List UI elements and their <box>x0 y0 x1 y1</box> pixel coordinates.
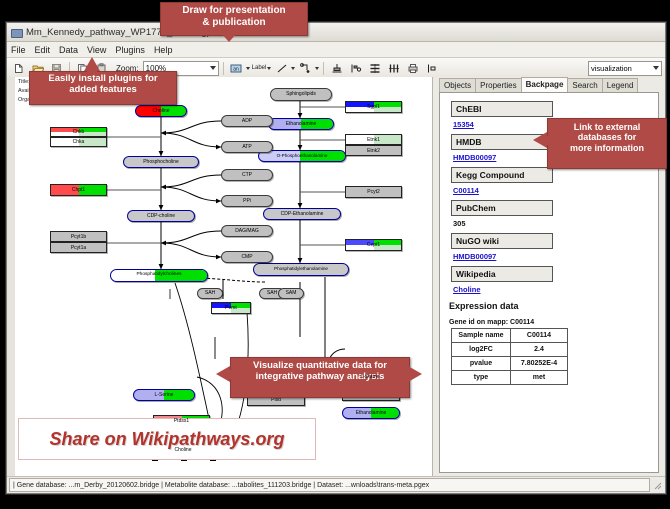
genebox-label: Cept1 <box>367 242 380 248</box>
node-label: DAG/MAG <box>235 229 259 234</box>
callout-visualize-arrow-left-stem <box>228 370 234 379</box>
node-label: SAM <box>286 291 297 296</box>
menu-item-help[interactable]: Help <box>154 45 173 55</box>
node-label: Phosphatidylcholines <box>136 273 181 278</box>
node-label: ADP <box>242 119 252 124</box>
genebox-label: Chkb <box>73 129 85 135</box>
label-tool[interactable]: Label <box>252 65 272 71</box>
table-row: type met <box>452 371 568 385</box>
node-ethanolamine-lower[interactable]: Ethanolamine <box>342 407 400 419</box>
node-dag-mag[interactable]: DAG/MAG <box>221 225 273 237</box>
toolbar-separator-2 <box>223 62 224 75</box>
table-cell-value: C00114 <box>511 329 568 343</box>
genebox-label: Pcyt1b <box>71 234 86 240</box>
table-cell-key: pvalue <box>452 357 511 371</box>
screenshot-root: Mm_Kennedy_pathway_WP1771_45176.gpml Fil… <box>0 0 670 509</box>
node-adp[interactable]: ADP <box>221 115 273 127</box>
resize-grip-icon[interactable] <box>652 480 662 490</box>
chevron-down-icon[interactable] <box>291 67 295 70</box>
table-cell-key: type <box>452 371 511 385</box>
node-label: L-Serine <box>155 393 174 398</box>
callout-visualize-line2: integrative pathway analysis <box>231 372 409 383</box>
node-label: O-Phosphoethanolamine <box>277 154 328 159</box>
callout-draw-line1: Draw for presentation <box>161 5 307 17</box>
node-cdp-ethanolamine[interactable]: CDP-Ethanolamine <box>263 208 341 220</box>
node-cmp[interactable]: CMP <box>221 251 273 263</box>
genebox-label: Etnk2 <box>367 148 380 154</box>
side-panel-tabs: Objects Properties Backpage Search Legen… <box>433 77 665 92</box>
node-label: SAH <box>267 291 277 296</box>
node-ethanolamine[interactable]: Ethanolamine <box>268 118 334 130</box>
menubar: File Edit Data View Plugins Help <box>7 42 665 58</box>
tab-properties[interactable]: Properties <box>475 78 521 92</box>
genebox-pemt[interactable]: Pemt <box>211 302 251 314</box>
node-label: Phosphocholine <box>143 160 179 165</box>
section-header-nugo-wiki: NuGO wiki <box>451 233 553 249</box>
menu-item-data[interactable]: Data <box>59 45 78 55</box>
chevron-down-icon[interactable] <box>315 67 319 70</box>
callout-visualize-arrow-right-stem <box>404 370 410 379</box>
status-text: | Gene database: ...m_Derby_20120602.bri… <box>9 478 650 492</box>
expression-data-header: Expression data <box>449 301 655 311</box>
menu-item-edit[interactable]: Edit <box>35 45 51 55</box>
datanode-tool[interactable]: an <box>228 60 250 77</box>
node-cdp-choline[interactable]: CDP-choline <box>127 210 195 222</box>
window-titlebar: Mm_Kennedy_pathway_WP1771_45176.gpml <box>7 23 665 42</box>
table-row: Sample name C00114 <box>452 329 568 343</box>
node-phosphatidylethanolamine[interactable]: Phosphatidylethanolamine <box>253 263 349 276</box>
callout-share-text: Share on Wikipathways.org <box>50 429 285 450</box>
node-label: Ethanolamine <box>356 411 387 416</box>
new-file-icon[interactable] <box>10 60 27 77</box>
callout-links-arrow-stem <box>545 136 551 145</box>
callout-share: Share on Wikipathways.org <box>18 418 316 460</box>
genebox-chpt1[interactable]: Chpt1 <box>50 184 107 196</box>
genebox-label: Ptdss1 <box>174 418 189 424</box>
pathway-canvas[interactable]: Title: Availa Organi <box>15 77 432 477</box>
node-label: CTP <box>242 173 252 178</box>
callout-links-line1: Link to external <box>548 122 666 132</box>
genebox-label: Pemt <box>225 305 237 311</box>
table-row: pvalue 7.80252E-4 <box>452 357 568 371</box>
node-label: CMP <box>241 255 252 260</box>
distribute-vertical-icon[interactable] <box>366 60 383 77</box>
tab-legend[interactable]: Legend <box>602 78 639 92</box>
status-bar: | Gene database: ...m_Derby_20120602.bri… <box>7 476 665 493</box>
pathvisio-app-icon <box>11 27 22 38</box>
node-label: Choline <box>175 448 192 453</box>
pathway-canvas-panel[interactable]: Title: Availa Organi <box>7 77 433 477</box>
genebox-label: Etnk1 <box>367 137 380 143</box>
genebox-pcyt2[interactable]: Pcyt2 <box>345 186 402 198</box>
table-cell-key: Sample name <box>452 329 511 343</box>
callout-draw-line2: & publication <box>161 17 307 29</box>
print-icon[interactable] <box>404 60 421 77</box>
genebox-label: Sgpl1 <box>367 104 380 110</box>
node-ppi[interactable]: PPi <box>221 195 273 207</box>
callout-visualize-arrow-right <box>408 366 422 382</box>
section-header-chebi: ChEBI <box>451 101 553 117</box>
link-nugo-wiki[interactable]: HMDB00097 <box>453 252 655 261</box>
callout-plugins-line2: added features <box>30 85 176 96</box>
chevron-down-icon[interactable] <box>267 67 271 70</box>
visualization-select[interactable]: visualization <box>588 61 662 76</box>
node-label: L-Serine <box>361 375 380 380</box>
callout-plugins-arrow-stem <box>87 70 97 75</box>
node-phosphocholine[interactable]: Phosphocholine <box>123 156 199 168</box>
tab-search[interactable]: Search <box>567 78 602 92</box>
node-choline[interactable]: Choline <box>135 105 187 117</box>
visualization-value: visualization <box>591 64 632 73</box>
datanode-icon[interactable]: an <box>228 60 245 77</box>
align-bottom-icon[interactable] <box>328 60 345 77</box>
section-header-kegg: Kegg Compound <box>451 167 553 183</box>
node-label: ATP <box>242 145 251 150</box>
genebox-sgpl1[interactable]: Sgpl1 <box>345 101 402 113</box>
table-row: log2FC 2.4 <box>452 343 568 357</box>
genebox-etnk1[interactable]: Etnk1 <box>345 134 402 145</box>
genebox-label: Pcyt1a <box>71 245 86 251</box>
line-tool[interactable] <box>273 60 295 77</box>
order-icon[interactable] <box>423 60 440 77</box>
value-pubchem: 305 <box>453 219 655 228</box>
node-phosphatidylcholines[interactable]: Phosphatidylcholines <box>110 269 208 282</box>
chevron-down-icon <box>210 66 216 70</box>
node-label: CDP-choline <box>147 214 175 219</box>
node-label: Phosphatidylethanolamine <box>274 267 328 272</box>
anchor-tool[interactable] <box>297 60 319 77</box>
table-cell-value: 2.4 <box>511 343 568 357</box>
expression-table: Sample name C00114 log2FC 2.4 pvalue 7.8… <box>451 328 568 385</box>
genebox-label: Pcyt2 <box>367 189 380 195</box>
callout-plugins-arrow <box>84 57 100 71</box>
node-label: SAH <box>205 291 215 296</box>
node-label: Sphingolipids <box>286 92 316 97</box>
genebox-label: Chpt1 <box>72 187 85 193</box>
callout-draw-arrow <box>220 32 238 42</box>
genebox-etnk2[interactable]: Etnk2 <box>345 145 402 156</box>
table-cell-key: log2FC <box>452 343 511 357</box>
genebox-chka[interactable]: Chka <box>50 137 107 147</box>
node-sam[interactable]: SAM <box>278 288 304 299</box>
node-o-phosphoethanolamine[interactable]: O-Phosphoethanolamine <box>258 150 346 162</box>
genebox-label: Chka <box>73 139 85 145</box>
chevron-down-icon <box>653 66 659 70</box>
callout-links-line3: more information <box>548 143 666 153</box>
genebox-cept1[interactable]: Cept1 <box>345 239 402 251</box>
genebox-pcyt1b[interactable]: Pcyt1b <box>50 231 107 242</box>
gene-id-line: Gene id on mapp: C00114 <box>449 319 655 326</box>
node-atp[interactable]: ATP <box>221 141 273 153</box>
align-left-icon[interactable] <box>347 60 364 77</box>
callout-draw: Draw for presentation & publication <box>160 2 308 36</box>
callout-links: Link to external databases for more info… <box>547 118 667 169</box>
label-tool-text: Label <box>252 65 267 71</box>
elbow-connector-icon[interactable] <box>297 60 314 77</box>
menu-item-file[interactable]: File <box>11 45 26 55</box>
genebox-chkb[interactable]: Chkb <box>50 127 107 137</box>
node-sah-left[interactable]: SAH <box>197 288 223 299</box>
callout-links-line2: databases for <box>548 132 666 142</box>
callout-plugins: Easily install plugins for added feature… <box>29 71 177 105</box>
menu-item-view[interactable]: View <box>87 45 106 55</box>
node-label: CDP-Ethanolamine <box>281 212 324 217</box>
table-cell-value: met <box>511 371 568 385</box>
node-label: Ethanolamine <box>286 122 317 127</box>
node-label: PPi <box>243 199 251 204</box>
link-wikipedia[interactable]: Choline <box>453 285 655 294</box>
link-kegg[interactable]: C00114 <box>453 186 655 195</box>
table-cell-value: 7.80252E-4 <box>511 357 568 371</box>
chevron-down-icon[interactable] <box>246 67 250 70</box>
node-l-serine-left[interactable]: L-Serine <box>133 389 195 401</box>
svg-text:an: an <box>233 66 239 72</box>
distribute-horizontal-icon[interactable] <box>385 60 402 77</box>
section-header-wikipedia: Wikipedia <box>451 266 553 282</box>
tab-backpage[interactable]: Backpage <box>521 77 569 92</box>
node-ctp[interactable]: CTP <box>221 169 273 181</box>
node-label: Choline <box>153 109 170 114</box>
section-header-pubchem: PubChem <box>451 200 553 216</box>
node-sphingolipids[interactable]: Sphingolipids <box>270 88 332 101</box>
menu-item-plugins[interactable]: Plugins <box>115 45 145 55</box>
tab-objects[interactable]: Objects <box>439 78 476 92</box>
line-icon[interactable] <box>273 60 290 77</box>
genebox-pcyt1a[interactable]: Pcyt1a <box>50 242 107 253</box>
toolbar-separator-3 <box>323 62 324 75</box>
callout-visualize: Visualize quantitative data for integrat… <box>230 357 410 398</box>
